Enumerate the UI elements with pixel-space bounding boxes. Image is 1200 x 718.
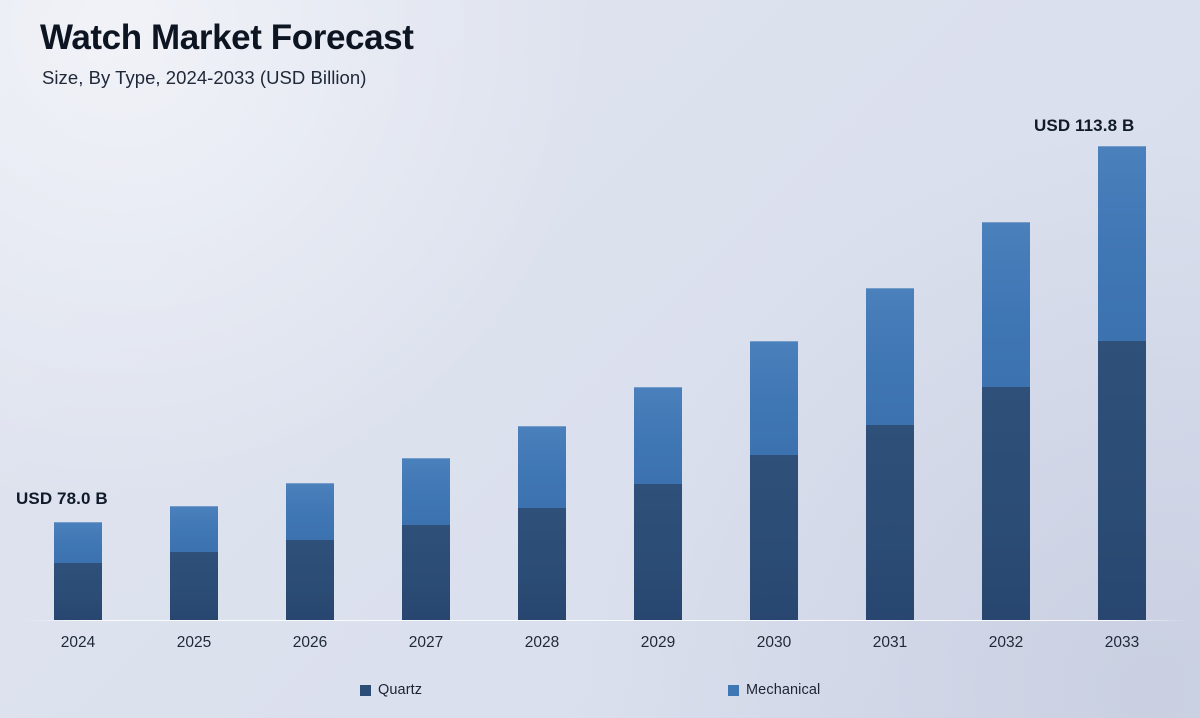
x-tick-label-2026: 2026	[286, 634, 334, 652]
annotation-end-value: USD 113.8 B	[1034, 116, 1134, 136]
x-tick-label-2031: 2031	[866, 634, 914, 652]
chart-plot-area: 2024202520262027202820292030203120322033…	[0, 0, 1200, 718]
legend-swatch-mechanical	[728, 685, 739, 696]
bar-2028[interactable]	[518, 426, 566, 620]
bar-segment-mechanical-2027[interactable]	[402, 458, 450, 525]
bar-segment-quartz-2031[interactable]	[866, 425, 914, 620]
x-tick-label-2025: 2025	[170, 634, 218, 652]
x-tick-label-2028: 2028	[518, 634, 566, 652]
x-tick-label-2033: 2033	[1098, 634, 1146, 652]
bar-segment-mechanical-2028[interactable]	[518, 426, 566, 508]
bar-2025[interactable]	[170, 506, 218, 620]
x-tick-label-2027: 2027	[402, 634, 450, 652]
bar-2024[interactable]	[54, 522, 102, 620]
bar-segment-mechanical-2029[interactable]	[634, 387, 682, 484]
x-tick-label-2030: 2030	[750, 634, 798, 652]
bar-segment-quartz-2025[interactable]	[170, 552, 218, 620]
bar-segment-mechanical-2033[interactable]	[1098, 146, 1146, 341]
bar-2032[interactable]	[982, 222, 1030, 620]
bar-segment-mechanical-2032[interactable]	[982, 222, 1030, 387]
bar-segment-mechanical-2031[interactable]	[866, 288, 914, 425]
legend-item-quartz[interactable]: Quartz	[360, 682, 422, 698]
bar-2031[interactable]	[866, 288, 914, 620]
legend-label-quartz: Quartz	[378, 682, 422, 698]
bar-segment-mechanical-2026[interactable]	[286, 483, 334, 540]
bar-2033[interactable]	[1098, 146, 1146, 620]
bar-2027[interactable]	[402, 458, 450, 620]
x-tick-label-2024: 2024	[54, 634, 102, 652]
x-tick-label-2029: 2029	[634, 634, 682, 652]
bar-2029[interactable]	[634, 387, 682, 620]
bar-segment-mechanical-2024[interactable]	[54, 522, 102, 563]
chart-infographic: Watch Market Forecast Size, By Type, 202…	[0, 0, 1200, 718]
bar-2026[interactable]	[286, 483, 334, 620]
legend-swatch-quartz	[360, 685, 371, 696]
bar-segment-quartz-2030[interactable]	[750, 455, 798, 620]
bar-segment-mechanical-2025[interactable]	[170, 506, 218, 552]
bar-segment-mechanical-2030[interactable]	[750, 341, 798, 455]
legend-label-mechanical: Mechanical	[746, 682, 820, 698]
bar-segment-quartz-2027[interactable]	[402, 525, 450, 620]
bar-segment-quartz-2032[interactable]	[982, 387, 1030, 620]
bar-2030[interactable]	[750, 341, 798, 620]
bar-segment-quartz-2029[interactable]	[634, 484, 682, 620]
bar-segment-quartz-2033[interactable]	[1098, 341, 1146, 620]
bar-segment-quartz-2028[interactable]	[518, 508, 566, 620]
annotation-start-value: USD 78.0 B	[16, 489, 108, 509]
x-axis-line	[20, 620, 1188, 621]
x-tick-label-2032: 2032	[982, 634, 1030, 652]
legend-item-mechanical[interactable]: Mechanical	[728, 682, 820, 698]
bar-segment-quartz-2024[interactable]	[54, 563, 102, 620]
bar-segment-quartz-2026[interactable]	[286, 540, 334, 620]
